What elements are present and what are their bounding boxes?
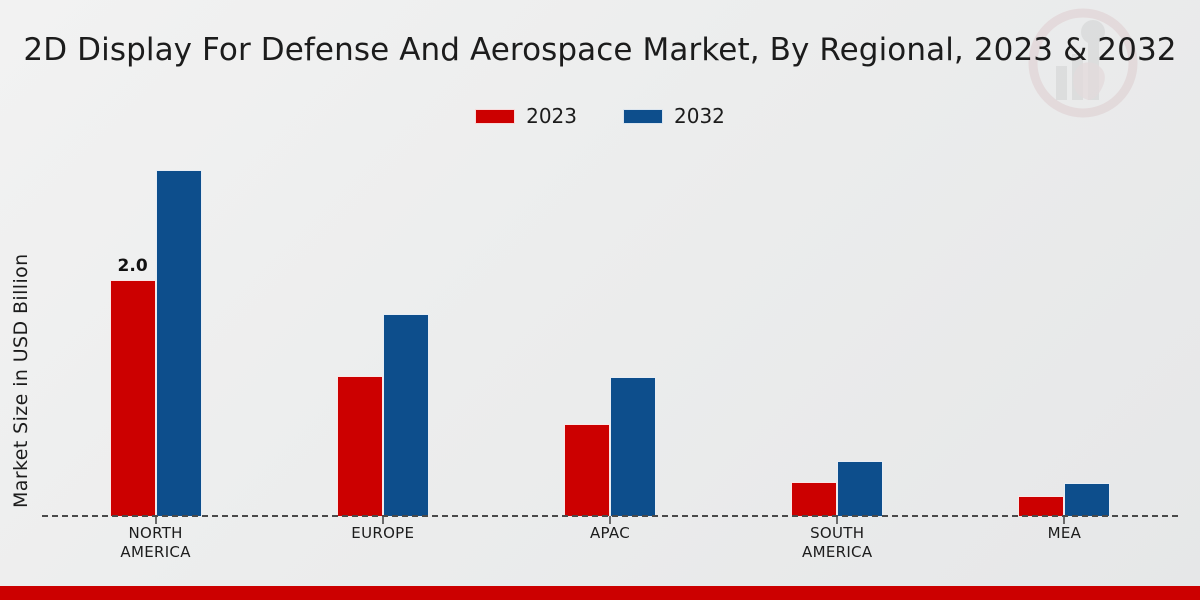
bottom-accent-bar	[0, 586, 1200, 600]
bar-2032[interactable]	[610, 377, 656, 516]
x-axis-baseline	[42, 515, 1178, 517]
y-axis-label: Market Size in USD Billion	[8, 216, 34, 546]
x-axis-categories: NORTHAMERICAEUROPEAPACSOUTHAMERICAMEA	[42, 524, 1178, 562]
x-axis-tick	[836, 516, 838, 524]
x-axis-category-label: APAC	[496, 524, 723, 562]
bar-group	[951, 150, 1178, 516]
bar-2032[interactable]	[156, 170, 202, 516]
x-axis-tick	[1063, 516, 1065, 524]
bar-group	[269, 150, 496, 516]
bar-2023[interactable]	[564, 424, 610, 516]
x-axis-category-label: SOUTHAMERICA	[724, 524, 951, 562]
bar-2023[interactable]	[1018, 496, 1064, 516]
bar-2023[interactable]	[337, 376, 383, 516]
legend-label-2023: 2023	[526, 104, 577, 128]
bar-value-label: 2.0	[118, 256, 148, 276]
bar-2032[interactable]	[1064, 483, 1110, 516]
legend-item-2032[interactable]: 2032	[623, 104, 725, 128]
plot-area: 2.0	[42, 150, 1178, 516]
x-axis-category-label: NORTHAMERICA	[42, 524, 269, 562]
page-title: 2D Display For Defense And Aerospace Mar…	[0, 32, 1200, 68]
chart-legend: 2023 2032	[0, 104, 1200, 128]
legend-swatch-2032	[623, 109, 663, 124]
x-axis-category-label: EUROPE	[269, 524, 496, 562]
bar-2032[interactable]	[383, 314, 429, 516]
bar-group	[496, 150, 723, 516]
x-axis-tick	[609, 516, 611, 524]
legend-label-2032: 2032	[674, 104, 725, 128]
legend-item-2023[interactable]: 2023	[475, 104, 577, 128]
legend-swatch-2023	[475, 109, 515, 124]
bar-group: 2.0	[42, 150, 269, 516]
bar-2032[interactable]	[837, 461, 883, 516]
bar-groups: 2.0	[42, 150, 1178, 516]
bar-2023[interactable]	[791, 482, 837, 516]
x-axis-category-label: MEA	[951, 524, 1178, 562]
bar-group	[724, 150, 951, 516]
x-axis-tick	[382, 516, 384, 524]
bar-2023[interactable]: 2.0	[110, 280, 156, 516]
x-axis-tick	[155, 516, 157, 524]
